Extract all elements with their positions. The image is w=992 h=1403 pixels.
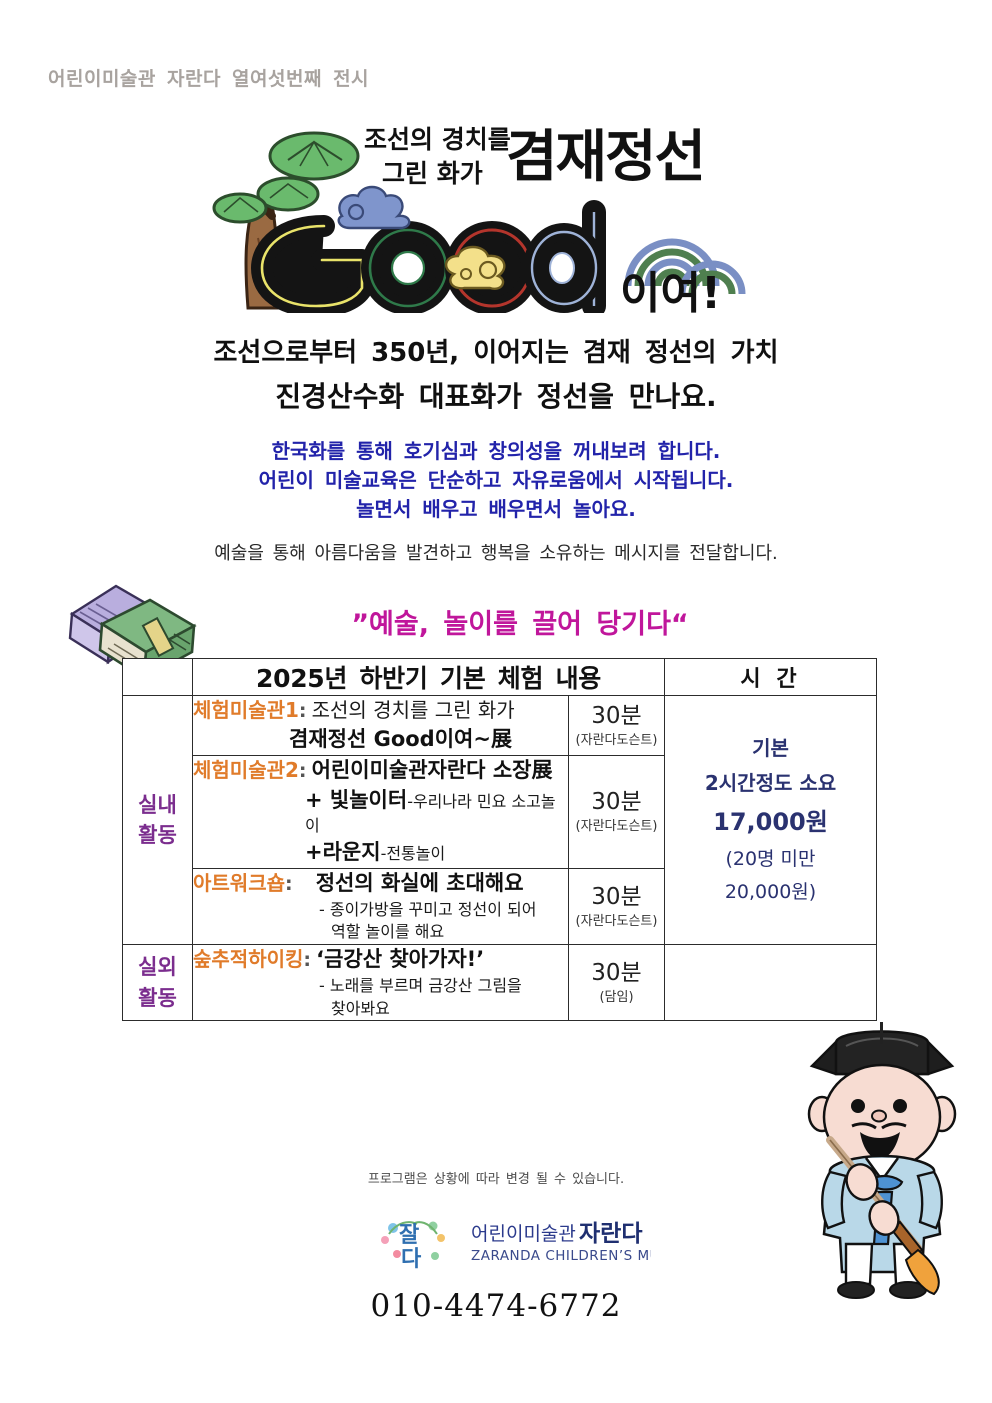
side-indoor-l1: 실내 — [123, 790, 192, 820]
svg-text:겸재정선: 겸재정선 — [506, 125, 704, 190]
poster-root: 어린이미술관 자란다 열여섯번째 전시 조선의 경치를 그린 화가 — [0, 0, 992, 1403]
row1-colon: : — [299, 700, 307, 722]
row4-duration: 30분 — [591, 960, 641, 986]
side-indoor-l2: 활동 — [123, 820, 192, 850]
row3-duration: 30분 — [591, 884, 641, 910]
eye-right — [893, 1099, 907, 1113]
program-tagline: ”예술, 놀이를 끌어 당기다“ — [200, 602, 840, 641]
row-content-3: 아트워크숍: 정선의 화실에 초대해요 - 종이가방을 꾸미고 정선이 되어 역… — [193, 868, 569, 944]
row4-label: 숲추적하이킹 — [193, 947, 303, 971]
row4-text3: 찾아봐요 — [331, 999, 390, 1018]
header-time-cell: 시 간 — [665, 659, 877, 696]
row1-duration-cell: 30분 (자란다도슨트) — [569, 696, 665, 756]
row2-text1: 어린이미술관자란다 소장展 — [312, 758, 553, 782]
row1-text1: 조선의 경치를 그린 화가 — [312, 698, 515, 722]
row4-duration-cell: 30분 (담임) — [569, 945, 665, 1021]
price-line-2: 2시간정도 소요 — [665, 766, 876, 801]
row1-line2: 겸재정선 Good이여~展 — [193, 725, 568, 755]
side-outdoor-l1: 실외 — [123, 952, 192, 982]
side-outdoor-l2: 활동 — [123, 983, 192, 1013]
row3-text3: 역할 놀이를 해요 — [331, 922, 444, 941]
table-row: 실내 활동 체험미술관1: 조선의 경치를 그린 화가 겸재정선 Good이여~… — [123, 696, 877, 756]
price-line-1: 기본 — [665, 731, 876, 766]
price-line-5: 20,000원) — [665, 876, 876, 909]
table-row: 실외 활동 숲추적하이킹: ‘금강산 찾아가자!’ - 노래를 부르며 금강산 … — [123, 945, 877, 1021]
page-headline: 조선으로부터 350년, 이어지는 겸재 정선의 가치 진경산수화 대표화가 정… — [0, 336, 992, 416]
program-table: 2025년 하반기 기본 체험 내용 시 간 실내 활동 체험미술관1: 조선의… — [122, 658, 877, 1021]
row1-duration-sub: (자란다도슨트) — [569, 733, 664, 749]
row3-duration-sub: (자란다도슨트) — [569, 914, 664, 930]
zaranda-emblem-icon: 잘 다 — [381, 1222, 445, 1273]
row3-line1: 아트워크숍: 정선의 화실에 초대해요 — [193, 869, 568, 899]
row3-duration-cell: 30분 (자란다도슨트) — [569, 868, 665, 944]
row1-duration: 30분 — [591, 703, 641, 729]
row4-line3: 찾아봐요 — [193, 998, 568, 1021]
headline-line-2: 진경산수화 대표화가 정선을 만나요. — [0, 377, 992, 416]
row2-text2a: + 빛놀이터 — [305, 788, 407, 812]
blue-cloud-icon — [339, 187, 410, 228]
mission-statement: 예술을 통해 아름다움을 발견하고 행복을 소유하는 메시지를 전달합니다. — [0, 541, 992, 566]
row2-line3: +라운지-전통놀이 — [193, 838, 568, 868]
footer-logo-kr-big: 자란다 — [579, 1221, 642, 1247]
row4-duration-sub: (담임) — [569, 990, 664, 1006]
program-table-wrap: 2025년 하반기 기본 체험 내용 시 간 실내 활동 체험미술관1: 조선의… — [122, 658, 876, 1021]
scholar-mascot-illustration — [796, 1022, 986, 1307]
price-cell: 기본 2시간정도 소요 17,000원 (20명 미만 20,000원) — [665, 696, 877, 945]
table-header-row: 2025년 하반기 기본 체험 내용 시 간 — [123, 659, 877, 696]
row2-text3a: +라운지 — [305, 840, 381, 864]
row2-line2: + 빛놀이터-우리나라 민요 소고놀이 — [193, 786, 568, 839]
row2-label: 체험미술관2 — [193, 758, 299, 782]
shoe-left — [838, 1282, 874, 1298]
row1-label: 체험미술관1 — [193, 698, 299, 722]
row2-duration-cell: 30분 (자란다도슨트) — [569, 755, 665, 868]
intro-blue-paragraph: 한국화를 통해 호기심과 창의성을 꺼내보려 합니다. 어린이 미술교육은 단순… — [0, 437, 992, 524]
intro-line-3: 놀면서 배우고 배우면서 놀아요. — [0, 495, 992, 524]
row3-text2: - 종이가방을 꾸미고 정선이 되어 — [319, 900, 536, 919]
side-label-indoor: 실내 활동 — [123, 696, 193, 945]
good-wordmark — [262, 212, 596, 306]
row2-duration: 30분 — [591, 789, 641, 815]
row2-duration-sub: (자란다도슨트) — [569, 819, 664, 835]
row2-text3b: -전통놀이 — [381, 844, 446, 863]
row2-line1: 체험미술관2: 어린이미술관자란다 소장展 — [193, 756, 568, 786]
zaranda-footer-logo: 잘 다 어린이미술관 자란다 ZARANDA CHILDREN’S MUSEUM — [371, 1212, 651, 1274]
row4-text2: - 노래를 부르며 금강산 그림을 — [319, 976, 522, 995]
side-label-outdoor: 실외 활동 — [123, 945, 193, 1021]
row4-line2: - 노래를 부르며 금강산 그림을 — [193, 975, 568, 998]
svg-text:다: 다 — [401, 1247, 422, 1272]
headline-line-1: 조선으로부터 350년, 이어지는 겸재 정선의 가치 — [0, 336, 992, 371]
exhibition-logo-artwork: 조선의 경치를 그린 화가 겸재정선 — [196, 108, 756, 313]
row2-colon: : — [299, 760, 307, 782]
row-content-1: 체험미술관1: 조선의 경치를 그린 화가 겸재정선 Good이여~展 — [193, 696, 569, 756]
eye-left — [851, 1099, 865, 1113]
row3-line2: - 종이가방을 꾸미고 정선이 되어 — [193, 899, 568, 922]
row4-line1: 숲추적하이킹: ‘금강산 찾아가자!’ — [193, 945, 568, 975]
header-spacer-cell — [123, 659, 193, 696]
row3-text1: 정선의 화실에 초대해요 — [316, 871, 524, 895]
footer-logo-kr-small: 어린이미술관 — [471, 1223, 576, 1245]
row4-text1: ‘금강산 찾아가자!’ — [316, 947, 484, 971]
row-content-2: 체험미술관2: 어린이미술관자란다 소장展 + 빛놀이터-우리나라 민요 소고놀… — [193, 755, 569, 868]
footer-logo-en: ZARANDA CHILDREN’S MUSEUM — [471, 1248, 651, 1264]
row3-colon: : — [285, 873, 293, 895]
nose — [872, 1111, 886, 1122]
row4-colon: : — [303, 949, 311, 971]
row3-line3: 역할 놀이를 해요 — [193, 921, 568, 944]
price-line-4: (20명 미만 — [665, 843, 876, 876]
price-line-3: 17,000원 — [665, 801, 876, 843]
leg-left — [846, 1244, 872, 1284]
exhibition-eyebrow: 어린이미술관 자란다 열여섯번째 전시 — [48, 64, 369, 91]
header-main-cell: 2025년 하반기 기본 체험 내용 — [193, 659, 665, 696]
price-cell-filler — [665, 945, 877, 1021]
svg-text:잘: 잘 — [399, 1223, 419, 1248]
row1-line1: 체험미술관1: 조선의 경치를 그린 화가 — [193, 696, 568, 725]
row3-label: 아트워크숍 — [193, 871, 285, 895]
intro-line-1: 한국화를 통해 호기심과 창의성을 꺼내보려 합니다. — [0, 437, 992, 466]
svg-text:조선의 경치를: 조선의 경치를 — [364, 125, 511, 154]
intro-line-2: 어린이 미술교육은 단순하고 자유로움에서 시작됩니다. — [0, 466, 992, 495]
svg-text:그린 화가: 그린 화가 — [382, 159, 483, 188]
svg-text:이여!: 이여! — [620, 268, 721, 313]
row1-text2: 겸재정선 Good이여~展 — [289, 727, 512, 751]
row-content-4: 숲추적하이킹: ‘금강산 찾아가자!’ - 노래를 부르며 금강산 그림을 찾아… — [193, 945, 569, 1021]
